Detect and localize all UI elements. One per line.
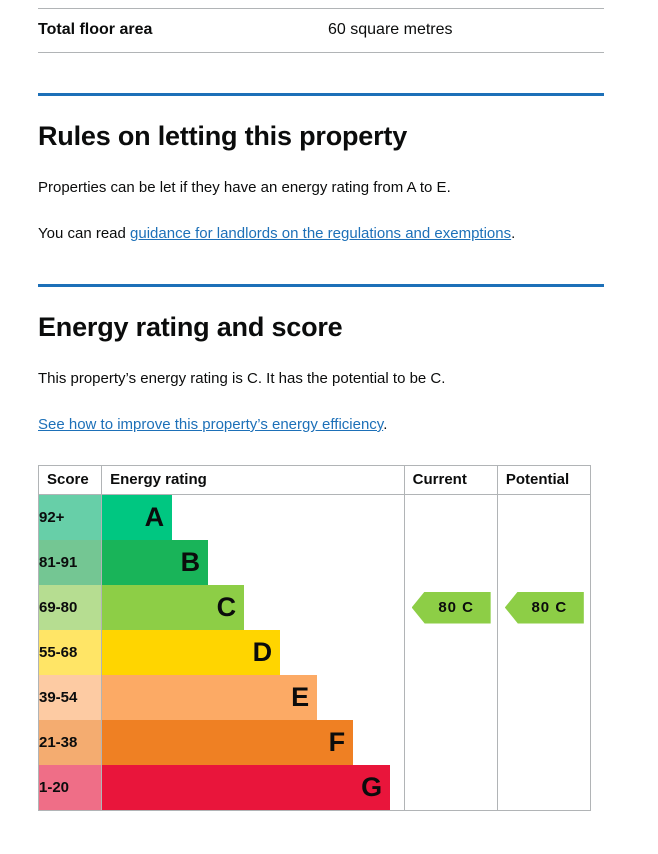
potential-rating-badge: 80 C	[505, 592, 584, 624]
spacer	[38, 244, 604, 284]
improve-efficiency-paragraph: See how to improve this property’s energ…	[38, 415, 604, 435]
section-divider-letting	[38, 93, 604, 96]
score-range-cell: 92+	[39, 495, 102, 541]
potential-rating-cell	[497, 495, 590, 541]
potential-rating-cell	[497, 630, 590, 675]
epc-rating-chart: Score Energy rating Current Potential 92…	[38, 465, 604, 811]
epc-band-row: 81-91B	[39, 540, 591, 585]
score-range-cell: 39-54	[39, 675, 102, 720]
rating-band-letter: C	[217, 594, 237, 621]
spacer	[38, 53, 604, 93]
total-floor-area-label: Total floor area	[38, 20, 328, 40]
epc-band-row: 92+A	[39, 495, 591, 541]
rating-band-letter: F	[329, 729, 346, 756]
header-score: Score	[39, 466, 102, 495]
current-rating-badge: 80 C	[412, 592, 491, 624]
improve-link-suffix: .	[383, 416, 387, 433]
header-energy-rating: Energy rating	[102, 466, 405, 495]
current-rating-cell	[404, 765, 497, 811]
rating-paragraph: This property’s energy rating is C. It h…	[38, 369, 604, 389]
section-divider-rating	[38, 284, 604, 287]
potential-rating-cell	[497, 765, 590, 811]
epc-band-row: 1-20G	[39, 765, 591, 811]
letting-section-title: Rules on letting this property	[38, 120, 604, 152]
energy-rating-bar-cell: E	[102, 675, 405, 720]
landlord-guidance-link[interactable]: guidance for landlords on the regulation…	[130, 225, 511, 242]
epc-page: Total floor area 60 square metres Rules …	[38, 0, 604, 811]
energy-rating-bar-cell: D	[102, 630, 405, 675]
potential-rating-cell	[497, 540, 590, 585]
score-range-cell: 69-80	[39, 585, 102, 630]
potential-rating-cell	[497, 675, 590, 720]
energy-rating-bar-cell: C	[102, 585, 405, 630]
epc-band-row: 69-80C80 C80 C	[39, 585, 591, 630]
rating-bar: A	[102, 495, 172, 540]
current-rating-cell: 80 C	[404, 585, 497, 630]
epc-band-row: 21-38F	[39, 720, 591, 765]
score-range-cell: 55-68	[39, 630, 102, 675]
current-rating-cell	[404, 720, 497, 765]
rating-band-letter: G	[361, 774, 382, 801]
rating-bar: G	[102, 765, 390, 810]
epc-header-row: Score Energy rating Current Potential	[39, 466, 591, 495]
epc-band-row: 55-68D	[39, 630, 591, 675]
current-rating-cell	[404, 495, 497, 541]
epc-table: Score Energy rating Current Potential 92…	[38, 465, 591, 811]
epc-body: 92+A81-91B69-80C80 C80 C55-68D39-54E21-3…	[39, 495, 591, 811]
rating-section-title: Energy rating and score	[38, 311, 604, 343]
letting-read-prefix: You can read	[38, 225, 130, 242]
letting-read-suffix: .	[511, 225, 515, 242]
energy-rating-bar-cell: A	[102, 495, 405, 541]
current-rating-cell	[404, 675, 497, 720]
energy-rating-bar-cell: F	[102, 720, 405, 765]
letting-paragraph: Properties can be let if they have an en…	[38, 178, 604, 198]
header-current: Current	[404, 466, 497, 495]
epc-band-row: 39-54E	[39, 675, 591, 720]
rating-bar: F	[102, 720, 353, 765]
potential-rating-cell: 80 C	[497, 585, 590, 630]
total-floor-area-value: 60 square metres	[328, 20, 453, 40]
rating-band-letter: E	[291, 684, 309, 711]
total-floor-area-row: Total floor area 60 square metres	[38, 8, 604, 53]
letting-guidance-paragraph: You can read guidance for landlords on t…	[38, 224, 604, 244]
rating-bar: B	[102, 540, 208, 585]
rating-band-letter: A	[145, 504, 165, 531]
rating-bar: D	[102, 630, 280, 675]
header-potential: Potential	[497, 466, 590, 495]
energy-rating-bar-cell: G	[102, 765, 405, 811]
rating-band-letter: B	[181, 549, 201, 576]
score-range-cell: 21-38	[39, 720, 102, 765]
current-rating-cell	[404, 540, 497, 585]
score-range-cell: 1-20	[39, 765, 102, 811]
rating-bar: C	[102, 585, 244, 630]
current-rating-cell	[404, 630, 497, 675]
improve-efficiency-link[interactable]: See how to improve this property’s energ…	[38, 416, 383, 433]
rating-band-letter: D	[253, 639, 273, 666]
score-range-cell: 81-91	[39, 540, 102, 585]
rating-bar: E	[102, 675, 317, 720]
potential-rating-cell	[497, 720, 590, 765]
energy-rating-bar-cell: B	[102, 540, 405, 585]
